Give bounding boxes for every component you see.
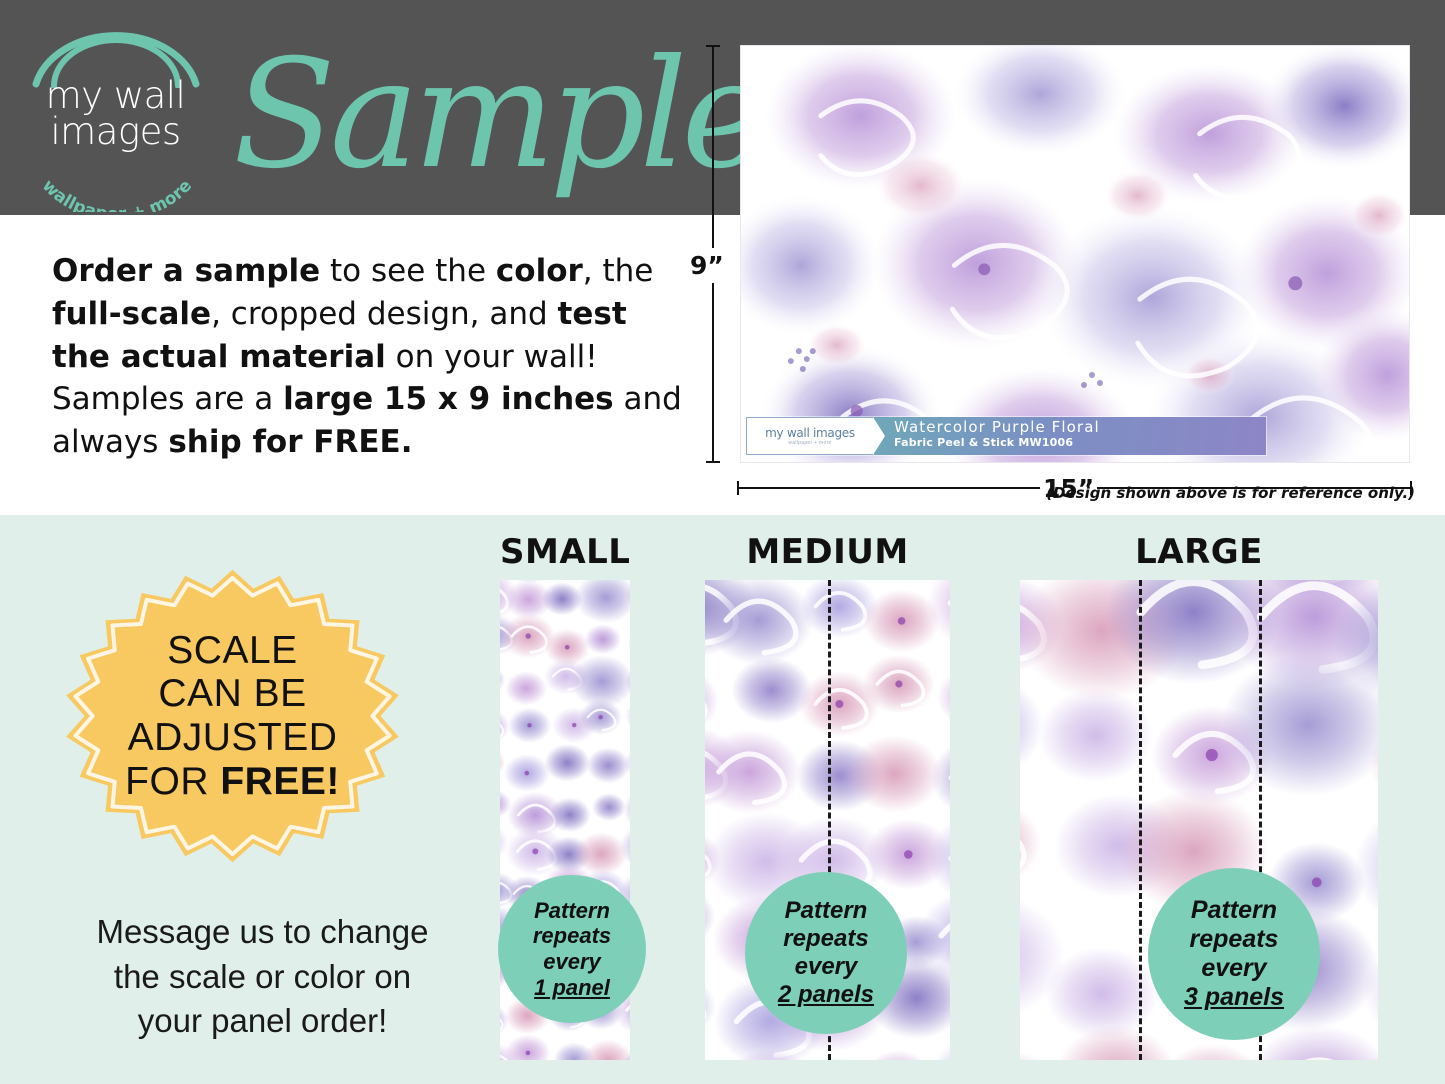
logo-wordmark: my wall images xyxy=(18,78,213,149)
scale-title-large: LARGE xyxy=(1020,532,1378,572)
repeat-small-l3: every xyxy=(533,949,611,975)
brand-logo: my wall images wallpaper + more xyxy=(18,26,213,201)
svg-text:wallpaper + more: wallpaper + more xyxy=(38,176,196,212)
order-sample-paragraph: Order a sample to see the color, the ful… xyxy=(52,250,682,464)
repeat-badge-medium: Pattern repeats every 2 panels xyxy=(745,872,907,1034)
repeat-small-l2: repeats xyxy=(533,923,611,949)
badge-line-4-bold: FREE! xyxy=(220,760,340,803)
logo-tagline: wallpaper + more xyxy=(22,154,212,212)
height-label: 9” xyxy=(688,248,726,283)
badge-line-1: SCALE xyxy=(167,629,297,673)
swatch-label-info: Watercolor Purple Floral Fabric Peel & S… xyxy=(874,417,1266,455)
repeat-badge-small: Pattern repeats every 1 panel xyxy=(498,875,646,1023)
repeat-small-l4: 1 panel xyxy=(534,975,610,1000)
swatch-logo-name: my wall images xyxy=(765,427,855,439)
swatch-pattern-name: Watercolor Purple Floral xyxy=(894,419,1266,436)
scale-title-small: SMALL xyxy=(500,532,630,572)
reference-note: (Design shown above is for reference onl… xyxy=(1046,484,1415,502)
logo-tagline-text: wallpaper + more xyxy=(38,176,196,212)
sample-preview-image: my wall images wallpaper + more Watercol… xyxy=(740,45,1410,463)
repeat-small-l1: Pattern xyxy=(533,898,611,924)
message-line-3: your panel order! xyxy=(45,999,480,1044)
swatch-material-sku: Fabric Peel & Stick MW1006 xyxy=(894,436,1266,449)
repeat-large-l3: every xyxy=(1184,954,1284,983)
message-us-text: Message us to change the scale or color … xyxy=(45,910,480,1044)
repeat-large-l4: 3 panels xyxy=(1184,983,1284,1011)
message-line-2: the scale or color on xyxy=(45,955,480,1000)
panel-divider-large-1 xyxy=(1139,580,1142,1060)
repeat-badge-large: Pattern repeats every 3 panels xyxy=(1148,868,1320,1040)
samples-script-title: Samples xyxy=(225,18,695,208)
repeat-medium-l3: every xyxy=(778,953,874,981)
badge-text: SCALE CAN BE ADJUSTED FOR FREE! xyxy=(60,566,405,866)
badge-line-3: ADJUSTED xyxy=(128,716,338,760)
swatch-logo-tagline: wallpaper + more xyxy=(788,440,831,446)
repeat-medium-l2: repeats xyxy=(778,925,874,953)
badge-line-2: CAN BE xyxy=(158,672,306,716)
sample-info-graphic: my wall images wallpaper + more Samples … xyxy=(0,0,1445,1084)
swatch-label-logo: my wall images wallpaper + more xyxy=(746,417,874,455)
logo-line-2: images xyxy=(18,114,213,150)
badge-line-4: FOR FREE! xyxy=(125,760,340,804)
repeat-medium-l1: Pattern xyxy=(778,897,874,925)
sample-swatch-label: my wall images wallpaper + more Watercol… xyxy=(746,417,1266,455)
repeat-large-l1: Pattern xyxy=(1184,896,1284,925)
repeat-medium-l4: 2 panels xyxy=(778,981,874,1008)
badge-line-4-plain: FOR xyxy=(125,760,220,803)
paragraph-runs: Order a sample to see the color, the ful… xyxy=(52,253,682,460)
scale-adjust-badge: SCALE CAN BE ADJUSTED FOR FREE! xyxy=(60,566,405,866)
scale-title-medium: MEDIUM xyxy=(705,532,950,572)
message-line-1: Message us to change xyxy=(45,910,480,955)
watercolor-floral-artwork xyxy=(741,46,1409,463)
repeat-large-l2: repeats xyxy=(1184,925,1284,954)
logo-line-1: my wall xyxy=(18,78,213,114)
